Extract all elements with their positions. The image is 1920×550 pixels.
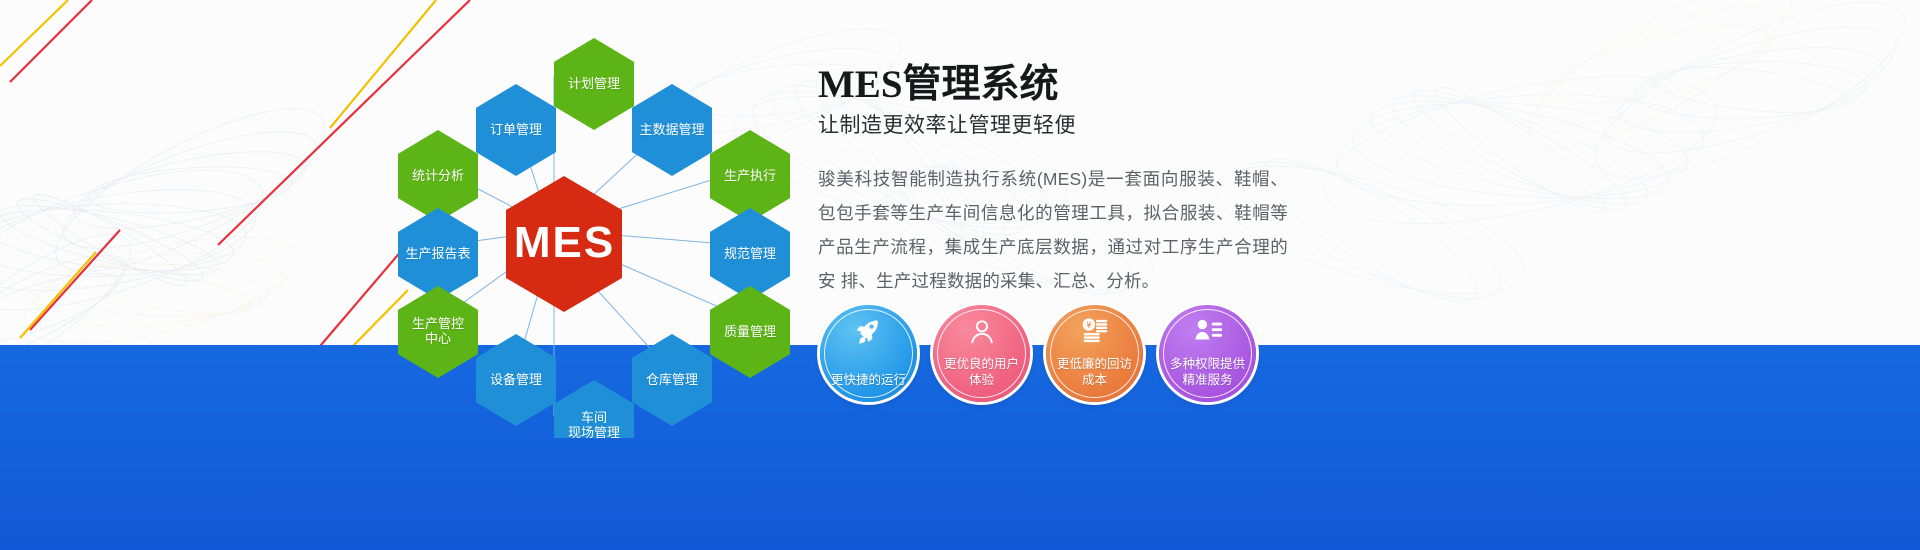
page-subtitle: 让制造更效率让管理更轻便 xyxy=(818,112,1288,140)
swirl-decoration-right xyxy=(1190,0,1920,370)
money-stack-icon: ¥ xyxy=(1080,317,1110,347)
badge-faster-operation[interactable]: 更快捷的运行 xyxy=(820,305,917,402)
badge-lower-revisit-cost[interactable]: ¥ 更低廉的回访 成本 xyxy=(1046,305,1143,402)
badge-better-user-experience[interactable]: 更优良的用户 体验 xyxy=(933,305,1030,402)
user-list-icon xyxy=(1193,317,1223,347)
hex-workshop-site-management-shape[interactable] xyxy=(554,380,634,438)
hex-master-data-management-shape[interactable] xyxy=(632,84,712,176)
hex-order-management-shape[interactable] xyxy=(476,84,556,176)
badge-label: 更快捷的运行 xyxy=(831,372,906,388)
feature-badge-row: 更快捷的运行 更优良的用户 体验 ¥ xyxy=(820,305,1256,402)
page-title: MES管理系统 xyxy=(818,62,1288,108)
page-description: 骏美科技智能制造执行系统(MES)是一套面向服装、鞋帽、包包手套等生产车间信息化… xyxy=(818,162,1288,298)
badge-label: 更优良的用户 体验 xyxy=(944,356,1019,388)
hex-warehouse-management-shape[interactable] xyxy=(632,334,712,426)
copy-block: MES管理系统 让制造更效率让管理更轻便 骏美科技智能制造执行系统(MES)是一… xyxy=(818,62,1288,298)
badge-label: 多种权限提供 精准服务 xyxy=(1170,356,1245,388)
mes-hexagon-diagram: 计划管理订单管理主数据管理统计分析生产执行生产报告表规范管理生产管控 中心质量管… xyxy=(330,18,790,438)
hex-plan-management-shape[interactable] xyxy=(554,38,634,130)
hex-center-label: MES xyxy=(492,218,637,268)
badge-multi-permission-service[interactable]: 多种权限提供 精准服务 xyxy=(1159,305,1256,402)
hex-quality-management-shape[interactable] xyxy=(710,286,790,378)
mes-promo-banner: 计划管理订单管理主数据管理统计分析生产执行生产报告表规范管理生产管控 中心质量管… xyxy=(0,0,1920,550)
hex-production-control-center-shape[interactable] xyxy=(398,286,478,378)
user-icon xyxy=(967,317,997,347)
hex-equipment-management-shape[interactable] xyxy=(476,334,556,426)
rocket-icon xyxy=(854,317,884,347)
svg-text:¥: ¥ xyxy=(1086,320,1092,330)
badge-label: 更低廉的回访 成本 xyxy=(1057,356,1132,388)
